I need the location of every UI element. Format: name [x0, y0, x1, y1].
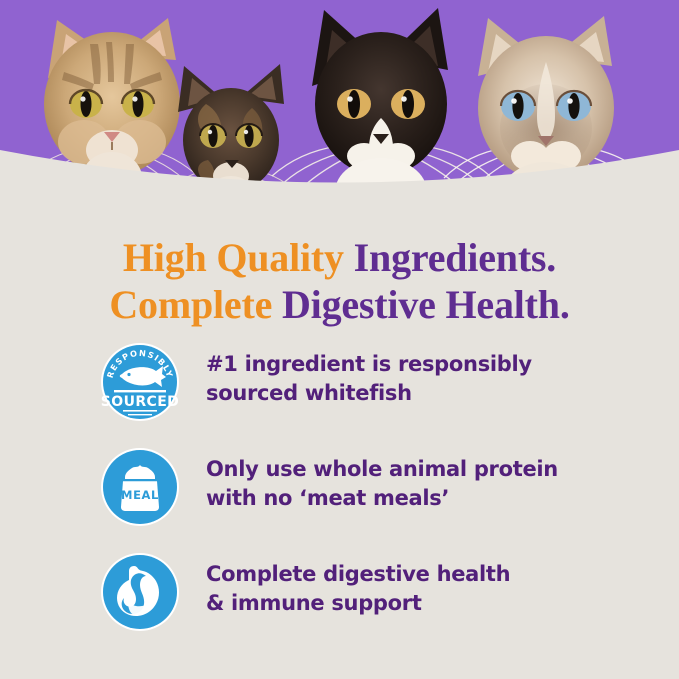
list-item-line-1: #1 ingredient is responsibly: [206, 350, 532, 379]
list-item-text: Complete digestive health & immune suppo…: [206, 550, 510, 617]
list-item-line-2: sourced whitefish: [206, 379, 532, 408]
meal-sack-icon: MEAL: [98, 445, 182, 529]
list-item: RESPONSIBLY SOURCED #1: [0, 340, 679, 424]
headline-line-1-orange: High Quality: [123, 235, 354, 280]
list-item: MEAL Only use whole animal protein with …: [0, 445, 679, 529]
headline-line-2-purple: Digestive Health.: [282, 282, 570, 327]
list-item-text: #1 ingredient is responsibly sourced whi…: [206, 340, 532, 407]
list-item-text: Only use whole animal protein with no ‘m…: [206, 445, 558, 512]
cat-photo-banner: [0, 0, 679, 200]
badge-main-text: SOURCED: [101, 394, 179, 410]
list-item: Complete digestive health & immune suppo…: [0, 550, 679, 634]
headline-line-1-purple: Ingredients.: [354, 235, 556, 280]
page-title: High Quality Ingredients. Complete Diges…: [0, 234, 679, 328]
list-item-line-1: Complete digestive health: [206, 560, 510, 589]
badge-main-text: MEAL: [121, 488, 159, 502]
responsibly-sourced-fish-badge-icon: RESPONSIBLY SOURCED: [98, 340, 182, 424]
headline-line-2: Complete Digestive Health.: [0, 281, 679, 328]
cat-banner-illustration: [0, 0, 679, 200]
product-feature-panel: High Quality Ingredients. Complete Diges…: [0, 0, 679, 679]
headline-line-2-orange: Complete: [109, 282, 282, 327]
list-item-line-2: with no ‘meat meals’: [206, 484, 558, 513]
list-item-line-2: & immune support: [206, 589, 510, 618]
headline-line-1: High Quality Ingredients.: [0, 234, 679, 281]
list-item-line-1: Only use whole animal protein: [206, 455, 558, 484]
feature-list: RESPONSIBLY SOURCED #1: [0, 340, 679, 655]
stomach-heart-digestive-health-icon: [98, 550, 182, 634]
